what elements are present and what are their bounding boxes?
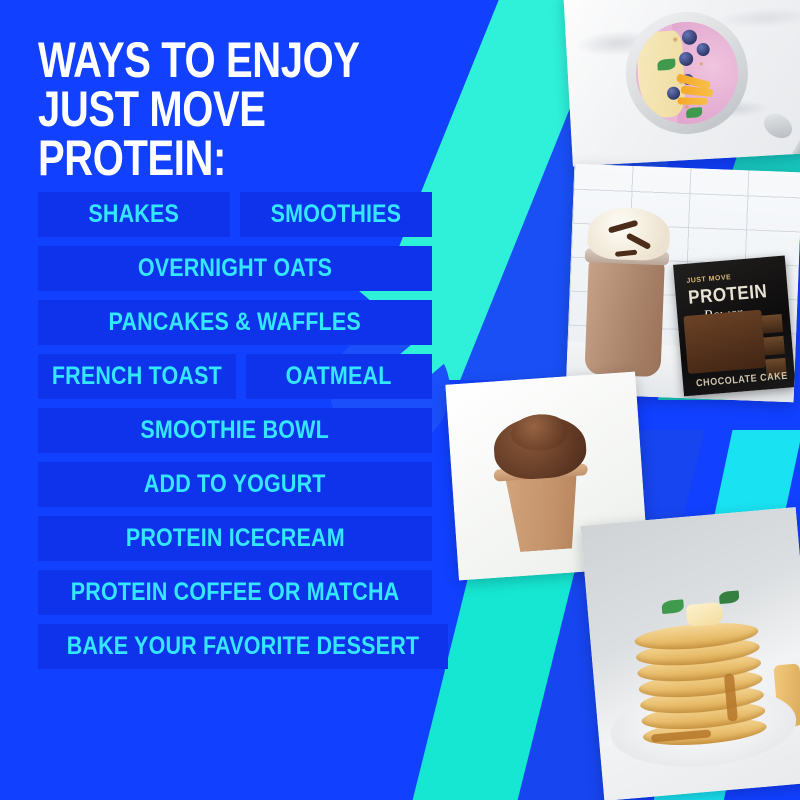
list-item: OVERNIGHT OATS: [38, 246, 432, 291]
smoothie-bowl-photo: [563, 0, 800, 166]
list-item-label: OATMEAL: [286, 362, 392, 391]
protein-shake-photo: JUST MOVE PROTEIN Power CHOCOLATE CAKE: [566, 164, 800, 403]
list-item-label: FRENCH TOAST: [52, 362, 222, 391]
list-item-label: SMOOTHIES: [271, 200, 402, 229]
ways-to-enjoy-list: SHAKES SMOOTHIES OVERNIGHT OATS PANCAKES…: [38, 192, 432, 669]
packet-flavor-label: CHOCOLATE CAKE: [696, 371, 788, 390]
list-item: PROTEIN COFFEE OR MATCHA: [38, 570, 432, 615]
pancake-stack: [633, 613, 768, 749]
list-item-label: ADD TO YOGURT: [144, 470, 326, 499]
poster-canvas: WAYS TO ENJOY JUST MOVE PROTEIN: SHAKES …: [0, 0, 800, 800]
list-row: SMOOTHIE BOWL: [38, 408, 432, 453]
pancakes-photo: [580, 507, 800, 800]
page-title: WAYS TO ENJOY JUST MOVE PROTEIN:: [38, 36, 454, 183]
photo-card-smoothie-bowl: [563, 0, 800, 166]
list-item-label: OVERNIGHT OATS: [138, 254, 332, 283]
list-item: PANCAKES & WAFFLES: [38, 300, 432, 345]
packet-brand-label: JUST MOVE: [686, 274, 731, 285]
list-row: ADD TO YOGURT: [38, 462, 432, 507]
packet-icon-2: [763, 336, 784, 356]
list-item: SHAKES: [38, 192, 230, 237]
list-item-label: PANCAKES & WAFFLES: [109, 308, 361, 337]
list-row: PROTEIN ICECREAM: [38, 516, 432, 561]
list-item: BAKE YOUR FAVORITE DESSERT: [38, 624, 448, 669]
list-item: OATMEAL: [246, 354, 432, 399]
list-row: PANCAKES & WAFFLES: [38, 300, 432, 345]
list-item: ADD TO YOGURT: [38, 462, 432, 507]
list-row: PROTEIN COFFEE OR MATCHA: [38, 570, 432, 615]
butter-pat: [686, 602, 724, 627]
list-item: SMOOTHIE BOWL: [38, 408, 432, 453]
list-item-label: PROTEIN ICECREAM: [126, 524, 345, 553]
list-row: OVERNIGHT OATS: [38, 246, 432, 291]
mango-slice: [677, 97, 707, 104]
list-row: FRENCH TOAST OATMEAL: [38, 354, 432, 399]
packet-product-image: [683, 310, 766, 374]
photo-card-pancakes: [580, 507, 800, 800]
mason-jar: [584, 256, 664, 377]
packet-icon-1: [762, 314, 783, 334]
list-item: SMOOTHIES: [240, 192, 432, 237]
list-row: SHAKES SMOOTHIES: [38, 192, 432, 237]
bowl-contents: [633, 19, 741, 127]
photo-card-protein-shake: JUST MOVE PROTEIN Power CHOCOLATE CAKE: [566, 164, 800, 403]
list-item-label: SHAKES: [89, 200, 180, 229]
protein-packet: JUST MOVE PROTEIN Power CHOCOLATE CAKE: [673, 256, 796, 397]
list-item: PROTEIN ICECREAM: [38, 516, 432, 561]
list-row: BAKE YOUR FAVORITE DESSERT: [38, 624, 432, 669]
list-item: FRENCH TOAST: [38, 354, 236, 399]
list-item-label: SMOOTHIE BOWL: [141, 416, 330, 445]
list-item-label: BAKE YOUR FAVORITE DESSERT: [67, 632, 420, 661]
list-item-label: PROTEIN COFFEE OR MATCHA: [71, 578, 400, 607]
